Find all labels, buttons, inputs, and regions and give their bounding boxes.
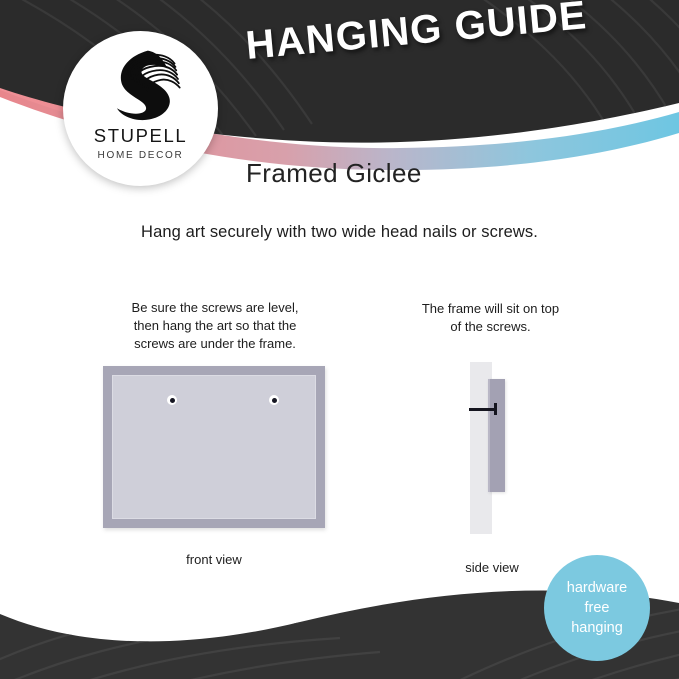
page-title: HANGING GUIDE [244,0,607,69]
brand-tagline: HOME DECOR [98,150,184,161]
hardware-free-hanging-badge: hardware free hanging [544,555,650,661]
screw-dot-left [167,395,177,405]
front-view-caption-line-3: screws are under the frame. [95,335,335,353]
side-view-caption-line-1: The frame will sit on top [388,300,593,318]
stupell-swoosh-logo-icon [98,48,184,122]
side-view-caption: The frame will sit on top of the screws. [388,300,593,336]
brand-name: STUPELL [94,125,187,147]
product-type-heading: Framed Giclee [246,158,422,189]
front-view-caption: Be sure the screws are level, then hang … [95,299,335,353]
front-view-caption-line-1: Be sure the screws are level, [95,299,335,317]
side-view-screw-shaft [469,408,496,411]
brand-logo-badge: STUPELL HOME DECOR [63,31,218,186]
side-view-frame [488,379,505,492]
hanging-guide-page: HANGING GUIDE STUPELL HOME DECOR Framed … [0,0,679,679]
instruction-lede: Hang art securely with two wide head nai… [0,223,679,242]
screw-dot-right [269,395,279,405]
front-view-caption-line-2: then hang the art so that the [95,317,335,335]
promo-line-1: hardware [567,578,627,598]
side-view-label: side view [432,560,552,575]
side-view-caption-line-2: of the screws. [388,318,593,336]
front-view-diagram [103,366,325,528]
front-view-frame-mat [112,375,316,519]
front-view-label: front view [103,552,325,567]
promo-line-3: hanging [571,618,623,638]
side-view-screw-head [494,403,497,415]
side-view-diagram [462,362,524,534]
promo-line-2: free [585,598,610,618]
